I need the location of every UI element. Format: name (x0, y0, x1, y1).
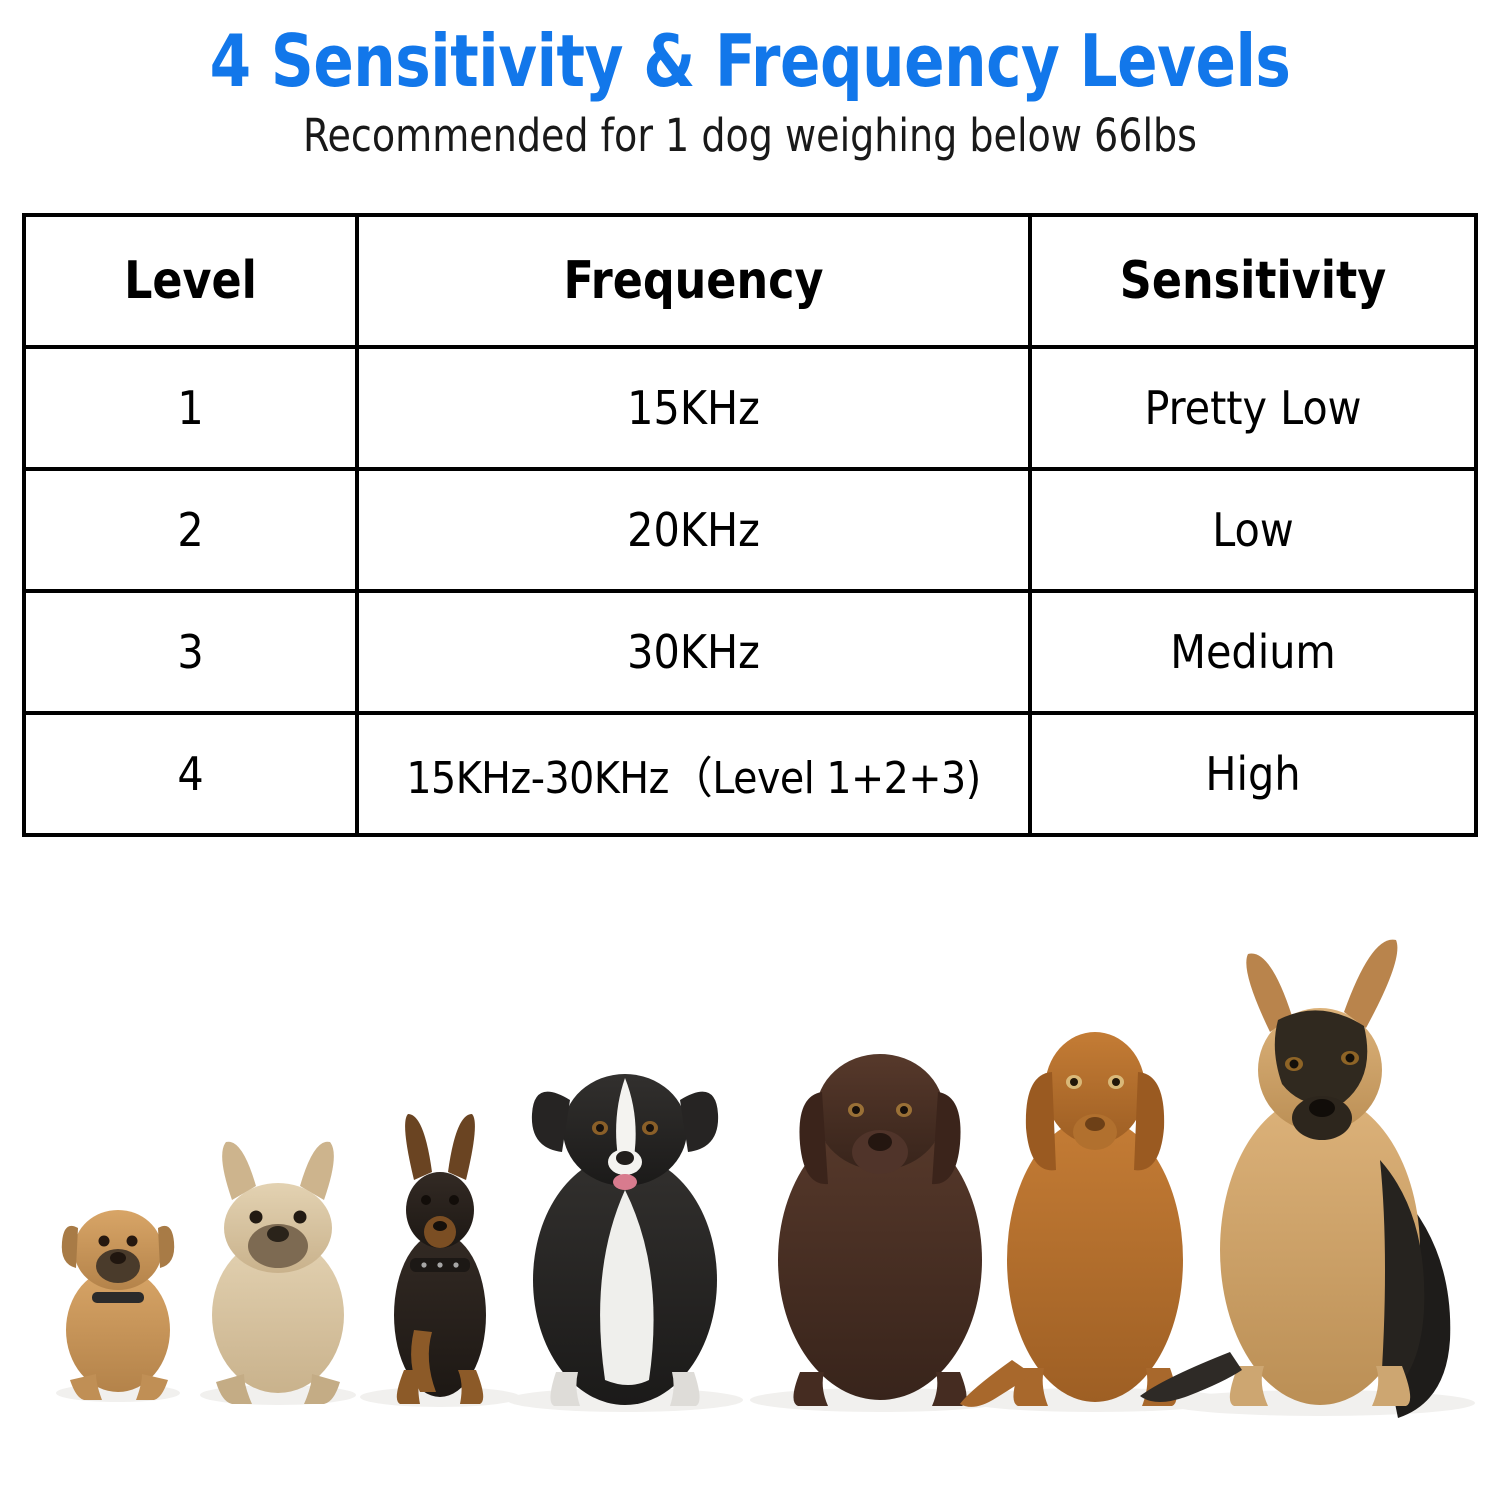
cell-frequency: 30KHz (357, 591, 1030, 713)
table-row: 2 20KHz Low (24, 469, 1476, 591)
table-header-row: Level Frequency Sensitivity (24, 215, 1476, 347)
column-header-level: Level (32, 215, 348, 347)
cell-sensitivity: High (1030, 713, 1476, 835)
column-header-sensitivity: Sensitivity (1041, 215, 1465, 347)
dog-german-shepherd (1140, 940, 1450, 1418)
dog-size-lineup-image (0, 860, 1500, 1460)
page-title: 4 Sensitivity & Frequency Levels (60, 0, 1440, 100)
cell-frequency: 20KHz (357, 469, 1030, 591)
dog-miniature-pinscher (394, 1114, 486, 1404)
cell-level: 1 (24, 347, 357, 469)
dog-chocolate-labrador (778, 1054, 982, 1406)
cell-level: 3 (24, 591, 357, 713)
cell-frequency: 15KHz-30KHz（Level 1+2+3) (357, 713, 1030, 835)
table-row: 1 15KHz Pretty Low (24, 347, 1476, 469)
page-subtitle: Recommended for 1 dog weighing below 66l… (45, 100, 1455, 162)
levels-table-wrapper: Level Frequency Sensitivity 1 15KHz Pret… (22, 213, 1474, 835)
dog-french-bulldog (212, 1142, 344, 1404)
table-row: 4 15KHz-30KHz（Level 1+2+3) High (24, 713, 1476, 835)
cell-sensitivity: Medium (1030, 591, 1476, 713)
cell-frequency: 15KHz (357, 347, 1030, 469)
header-block: 4 Sensitivity & Frequency Levels Recomme… (0, 0, 1500, 162)
dog-vizsla (960, 1032, 1183, 1407)
cell-sensitivity: Low (1030, 469, 1476, 591)
dog-border-collie (532, 1074, 718, 1406)
cell-sensitivity: Pretty Low (1030, 347, 1476, 469)
levels-table: Level Frequency Sensitivity 1 15KHz Pret… (22, 213, 1478, 837)
column-header-frequency: Frequency (374, 215, 1013, 347)
dog-tan-puppy (62, 1210, 174, 1400)
cell-level: 2 (24, 469, 357, 591)
cell-level: 4 (24, 713, 357, 835)
table-row: 3 30KHz Medium (24, 591, 1476, 713)
product-infographic: 4 Sensitivity & Frequency Levels Recomme… (0, 0, 1500, 1500)
